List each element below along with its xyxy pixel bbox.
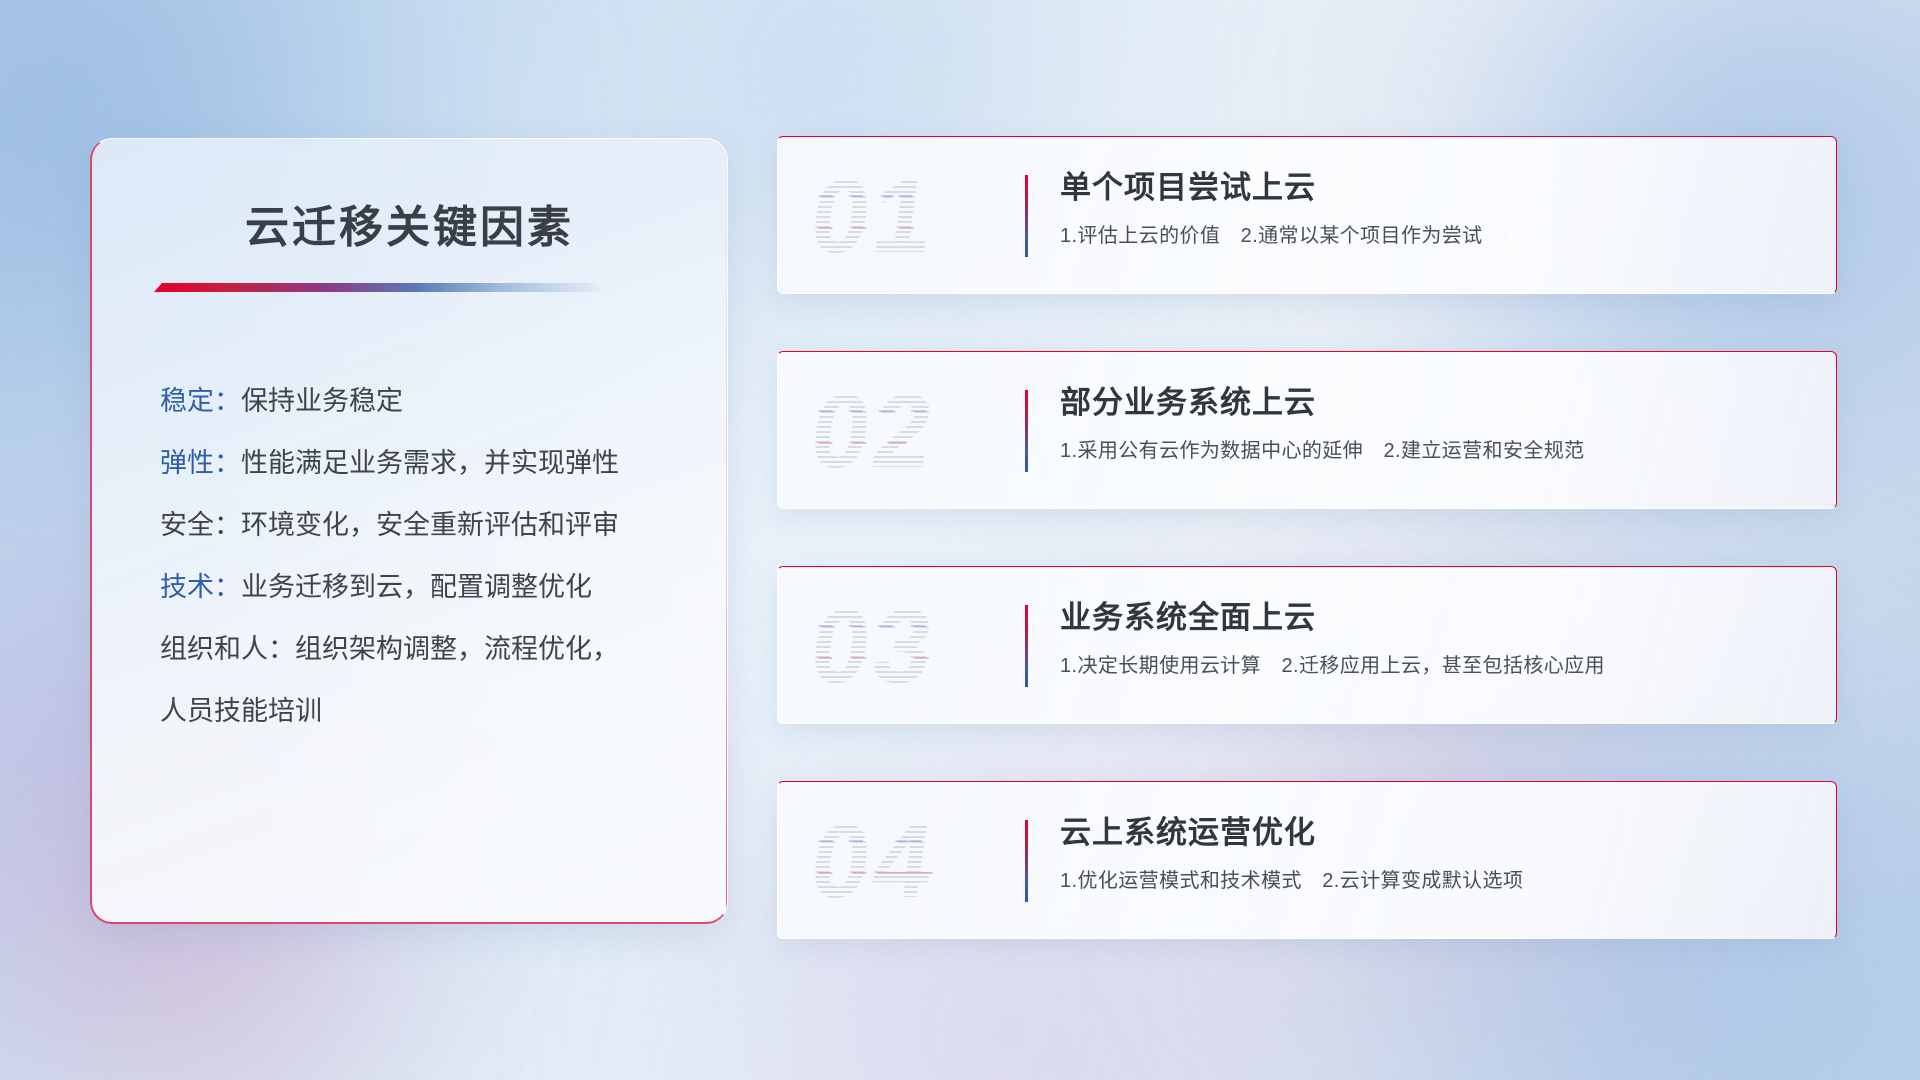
stage-divider-bar [1025,605,1028,687]
factor-key: 弹性： [160,448,241,478]
key-factors-panel: 云迁移关键因素 稳定：保持业务稳定弹性：性能满足业务需求，并实现弹性安全：环境变… [90,138,728,924]
factor-line: 弹性：性能满足业务需求，并实现弹性 [160,432,673,494]
factor-line: 技术：业务迁移到云，配置调整优化 [160,556,673,618]
page-title: 云迁移关键因素 [92,191,727,255]
stage-subtitle: 1.优化运营模式和技术模式 2.云计算变成默认选项 [1060,866,1800,896]
stage-title: 部分业务系统上云 [1060,380,1800,426]
stage-number-glyph: 01 [797,151,1016,283]
stage-number-watermark: 020202 [806,366,1006,498]
stage-card[interactable]: 030303业务系统全面上云1.决定长期使用云计算 2.迁移应用上云，甚至包括核… [777,566,1837,724]
stage-number-glyph: 02 [797,366,1016,498]
stage-title: 云上系统运营优化 [1060,810,1800,856]
title-accent-rule [154,283,606,292]
stage-card[interactable]: 020202部分业务系统上云1.采用公有云作为数据中心的延伸 2.建立运营和安全… [777,351,1837,509]
stage-card-body: 云上系统运营优化1.优化运营模式和技术模式 2.云计算变成默认选项 [1060,810,1800,896]
factor-value: 性能满足业务需求，并实现弹性 [241,448,619,478]
factor-key: 安全： [160,510,241,540]
stage-subtitle: 1.采用公有云作为数据中心的延伸 2.建立运营和安全规范 [1060,436,1800,466]
stage-number-watermark: 010101 [806,151,1006,283]
stage-title: 单个项目尝试上云 [1060,165,1800,211]
stage-divider-bar [1025,820,1028,902]
stage-number-glyph: 04 [800,796,1019,928]
stage-card-body: 业务系统全面上云1.决定长期使用云计算 2.迁移应用上云，甚至包括核心应用 [1060,595,1800,681]
key-factors-list: 稳定：保持业务稳定弹性：性能满足业务需求，并实现弹性安全：环境变化，安全重新评估… [92,370,727,742]
stage-number-glyph: 04 [797,796,1016,928]
slide-stage: 云迁移关键因素 稳定：保持业务稳定弹性：性能满足业务需求，并实现弹性安全：环境变… [0,0,1920,1080]
stage-number-glyph: 02 [794,366,1013,498]
title-accent-bar [154,283,606,292]
factor-key: 技术： [160,572,241,602]
stage-number-glyph: 03 [800,581,1019,713]
stage-number-watermark: 030303 [806,581,1006,713]
factor-line: 人员技能培训 [160,680,673,742]
factor-value: 保持业务稳定 [241,386,403,416]
stage-title: 业务系统全面上云 [1060,595,1800,641]
stage-number-glyph: 01 [800,151,1019,283]
stage-subtitle: 1.决定长期使用云计算 2.迁移应用上云，甚至包括核心应用 [1060,651,1800,681]
stage-card-body: 部分业务系统上云1.采用公有云作为数据中心的延伸 2.建立运营和安全规范 [1060,380,1800,466]
factor-value: 环境变化，安全重新评估和评审 [241,510,619,540]
stage-number-glyph: 03 [797,581,1016,713]
stage-number-watermark: 040404 [806,796,1006,928]
stage-card[interactable]: 010101单个项目尝试上云1.评估上云的价值 2.通常以某个项目作为尝试 [777,136,1837,294]
stage-divider-bar [1025,175,1028,257]
stage-number-glyph: 04 [794,796,1013,928]
factor-key: 组织和人： [160,634,295,664]
stage-divider-bar [1025,390,1028,472]
factor-line: 组织和人：组织架构调整，流程优化， [160,618,673,680]
stage-number-glyph: 03 [794,581,1013,713]
stage-number-glyph: 01 [794,151,1013,283]
factor-line: 稳定：保持业务稳定 [160,370,673,432]
factor-line: 安全：环境变化，安全重新评估和评审 [160,494,673,556]
stage-card-list: 010101单个项目尝试上云1.评估上云的价值 2.通常以某个项目作为尝试020… [777,136,1837,996]
factor-value: 人员技能培训 [160,696,322,726]
factor-key: 稳定： [160,386,241,416]
factor-value: 业务迁移到云，配置调整优化 [241,572,592,602]
stage-number-glyph: 02 [800,366,1019,498]
stage-card-body: 单个项目尝试上云1.评估上云的价值 2.通常以某个项目作为尝试 [1060,165,1800,251]
stage-card[interactable]: 040404云上系统运营优化1.优化运营模式和技术模式 2.云计算变成默认选项 [777,781,1837,939]
factor-value: 组织架构调整，流程优化， [295,634,619,664]
stage-subtitle: 1.评估上云的价值 2.通常以某个项目作为尝试 [1060,221,1800,251]
